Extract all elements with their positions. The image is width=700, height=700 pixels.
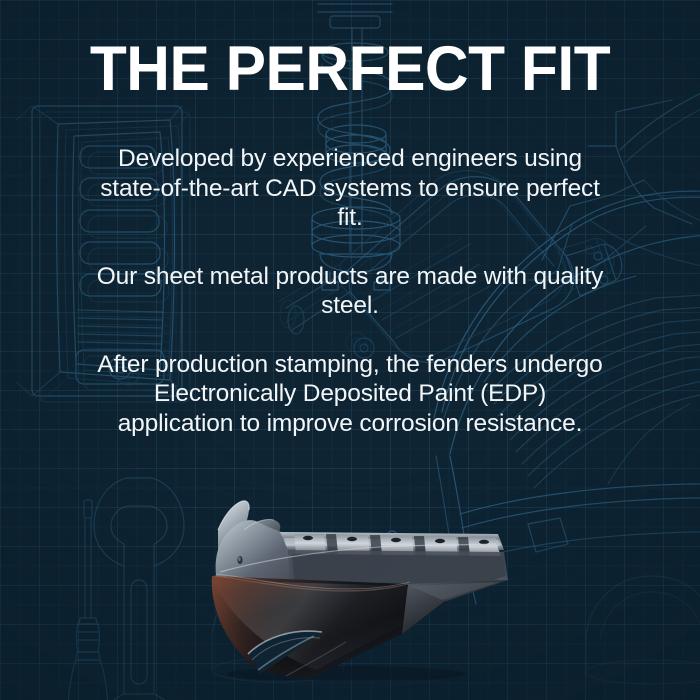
- page-title: THE PERFECT FIT: [14, 36, 686, 102]
- paragraph-1: Developed by experienced engineers using…: [96, 144, 604, 233]
- body-copy: Developed by experienced engineers using…: [96, 144, 604, 438]
- paragraph-2: Our sheet metal products are made with q…: [96, 262, 604, 321]
- car-fender-product-image: [196, 484, 544, 680]
- content-layer: THE PERFECT FIT Developed by experienced…: [0, 0, 700, 700]
- promo-banner: THE PERFECT FIT Developed by experienced…: [0, 0, 700, 700]
- paragraph-3: After production stamping, the fenders u…: [96, 350, 604, 439]
